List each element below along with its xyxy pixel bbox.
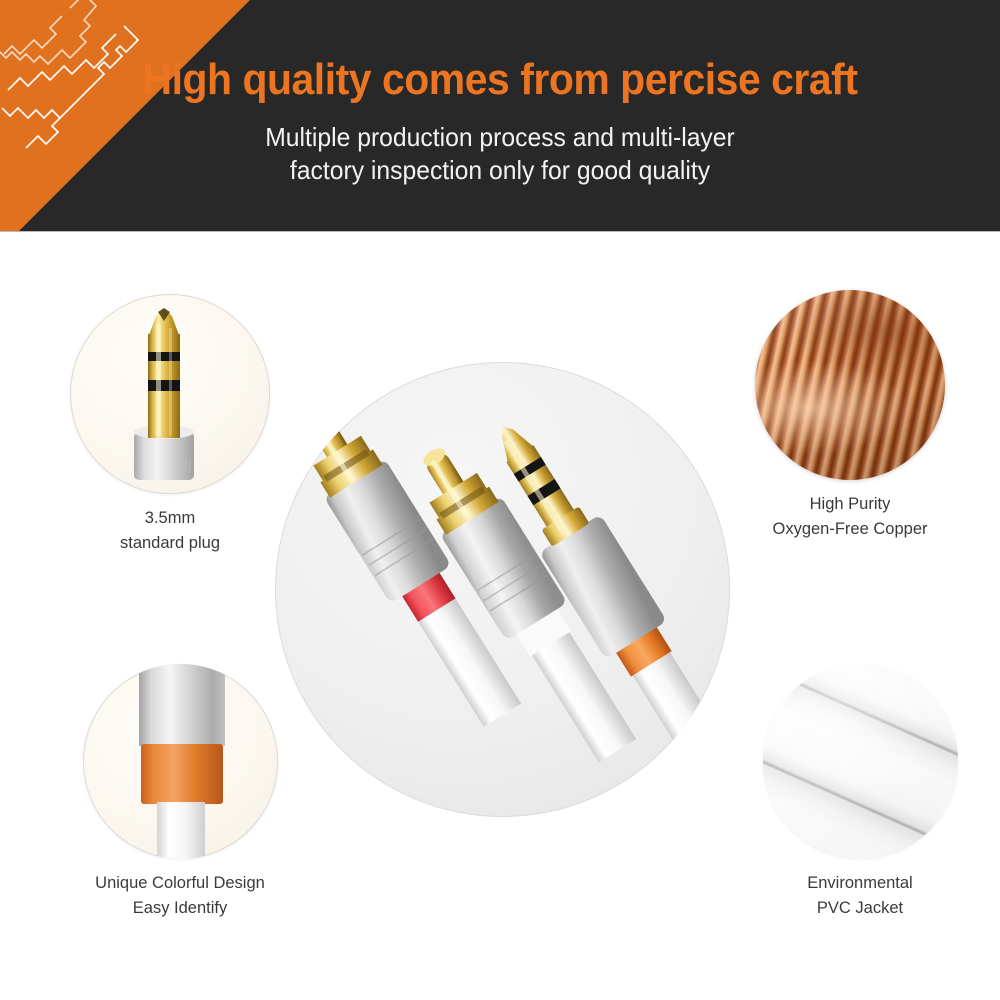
feature-label-pvc-jacket: Environmental PVC Jacket	[740, 871, 980, 921]
label-line-2: Oxygen-Free Copper	[730, 517, 970, 542]
feature-label-oxygen-free-copper: High Purity Oxygen-Free Copper	[730, 492, 970, 542]
label-line-1: Unique Colorful Design	[55, 871, 305, 896]
label-line-1: 3.5mm	[60, 506, 280, 531]
feature-3.5mm-plug: 3.5mm standard plug	[60, 294, 280, 556]
subtitle-line-1: Multiple production process and multi-la…	[25, 121, 975, 154]
gold-plug-icon	[70, 294, 270, 494]
feature-image-copper-coil	[755, 290, 945, 480]
center-product-image	[275, 362, 730, 817]
infographic-page: High quality comes from percise craft Mu…	[0, 0, 1000, 1000]
feature-oxygen-free-copper: High Purity Oxygen-Free Copper	[730, 290, 970, 542]
feature-image-pvc-jacket	[763, 664, 958, 859]
feature-colorful-design: Unique Colorful Design Easy Identify	[55, 664, 305, 921]
page-title: High quality comes from percise craft	[35, 55, 965, 105]
connectors-photo-illustration	[275, 362, 730, 817]
feature-image-colorful-band	[83, 664, 278, 859]
label-line-2: Easy Identify	[55, 896, 305, 921]
orange-band-connector-icon	[83, 664, 278, 859]
label-line-2: standard plug	[60, 531, 280, 556]
orange-corner-wedge	[0, 0, 250, 232]
page-subtitle: Multiple production process and multi-la…	[25, 121, 975, 187]
label-line-1: Environmental	[740, 871, 980, 896]
feature-label-3.5mm-plug: 3.5mm standard plug	[60, 506, 280, 556]
label-line-2: PVC Jacket	[740, 896, 980, 921]
header-banner: High quality comes from percise craft Mu…	[0, 0, 1000, 232]
feature-label-colorful-design: Unique Colorful Design Easy Identify	[55, 871, 305, 921]
subtitle-line-2: factory inspection only for good quality	[25, 154, 975, 187]
label-line-1: High Purity	[730, 492, 970, 517]
content-area: 3.5mm standard plug High Purity Oxygen-F…	[0, 232, 1000, 1000]
copper-shading-overlay	[755, 290, 945, 480]
feature-image-3.5mm-plug	[70, 294, 270, 494]
plug-outline-decoration-icon	[0, 0, 250, 232]
feature-pvc-jacket: Environmental PVC Jacket	[740, 664, 980, 921]
pvc-shading-overlay	[763, 664, 958, 859]
